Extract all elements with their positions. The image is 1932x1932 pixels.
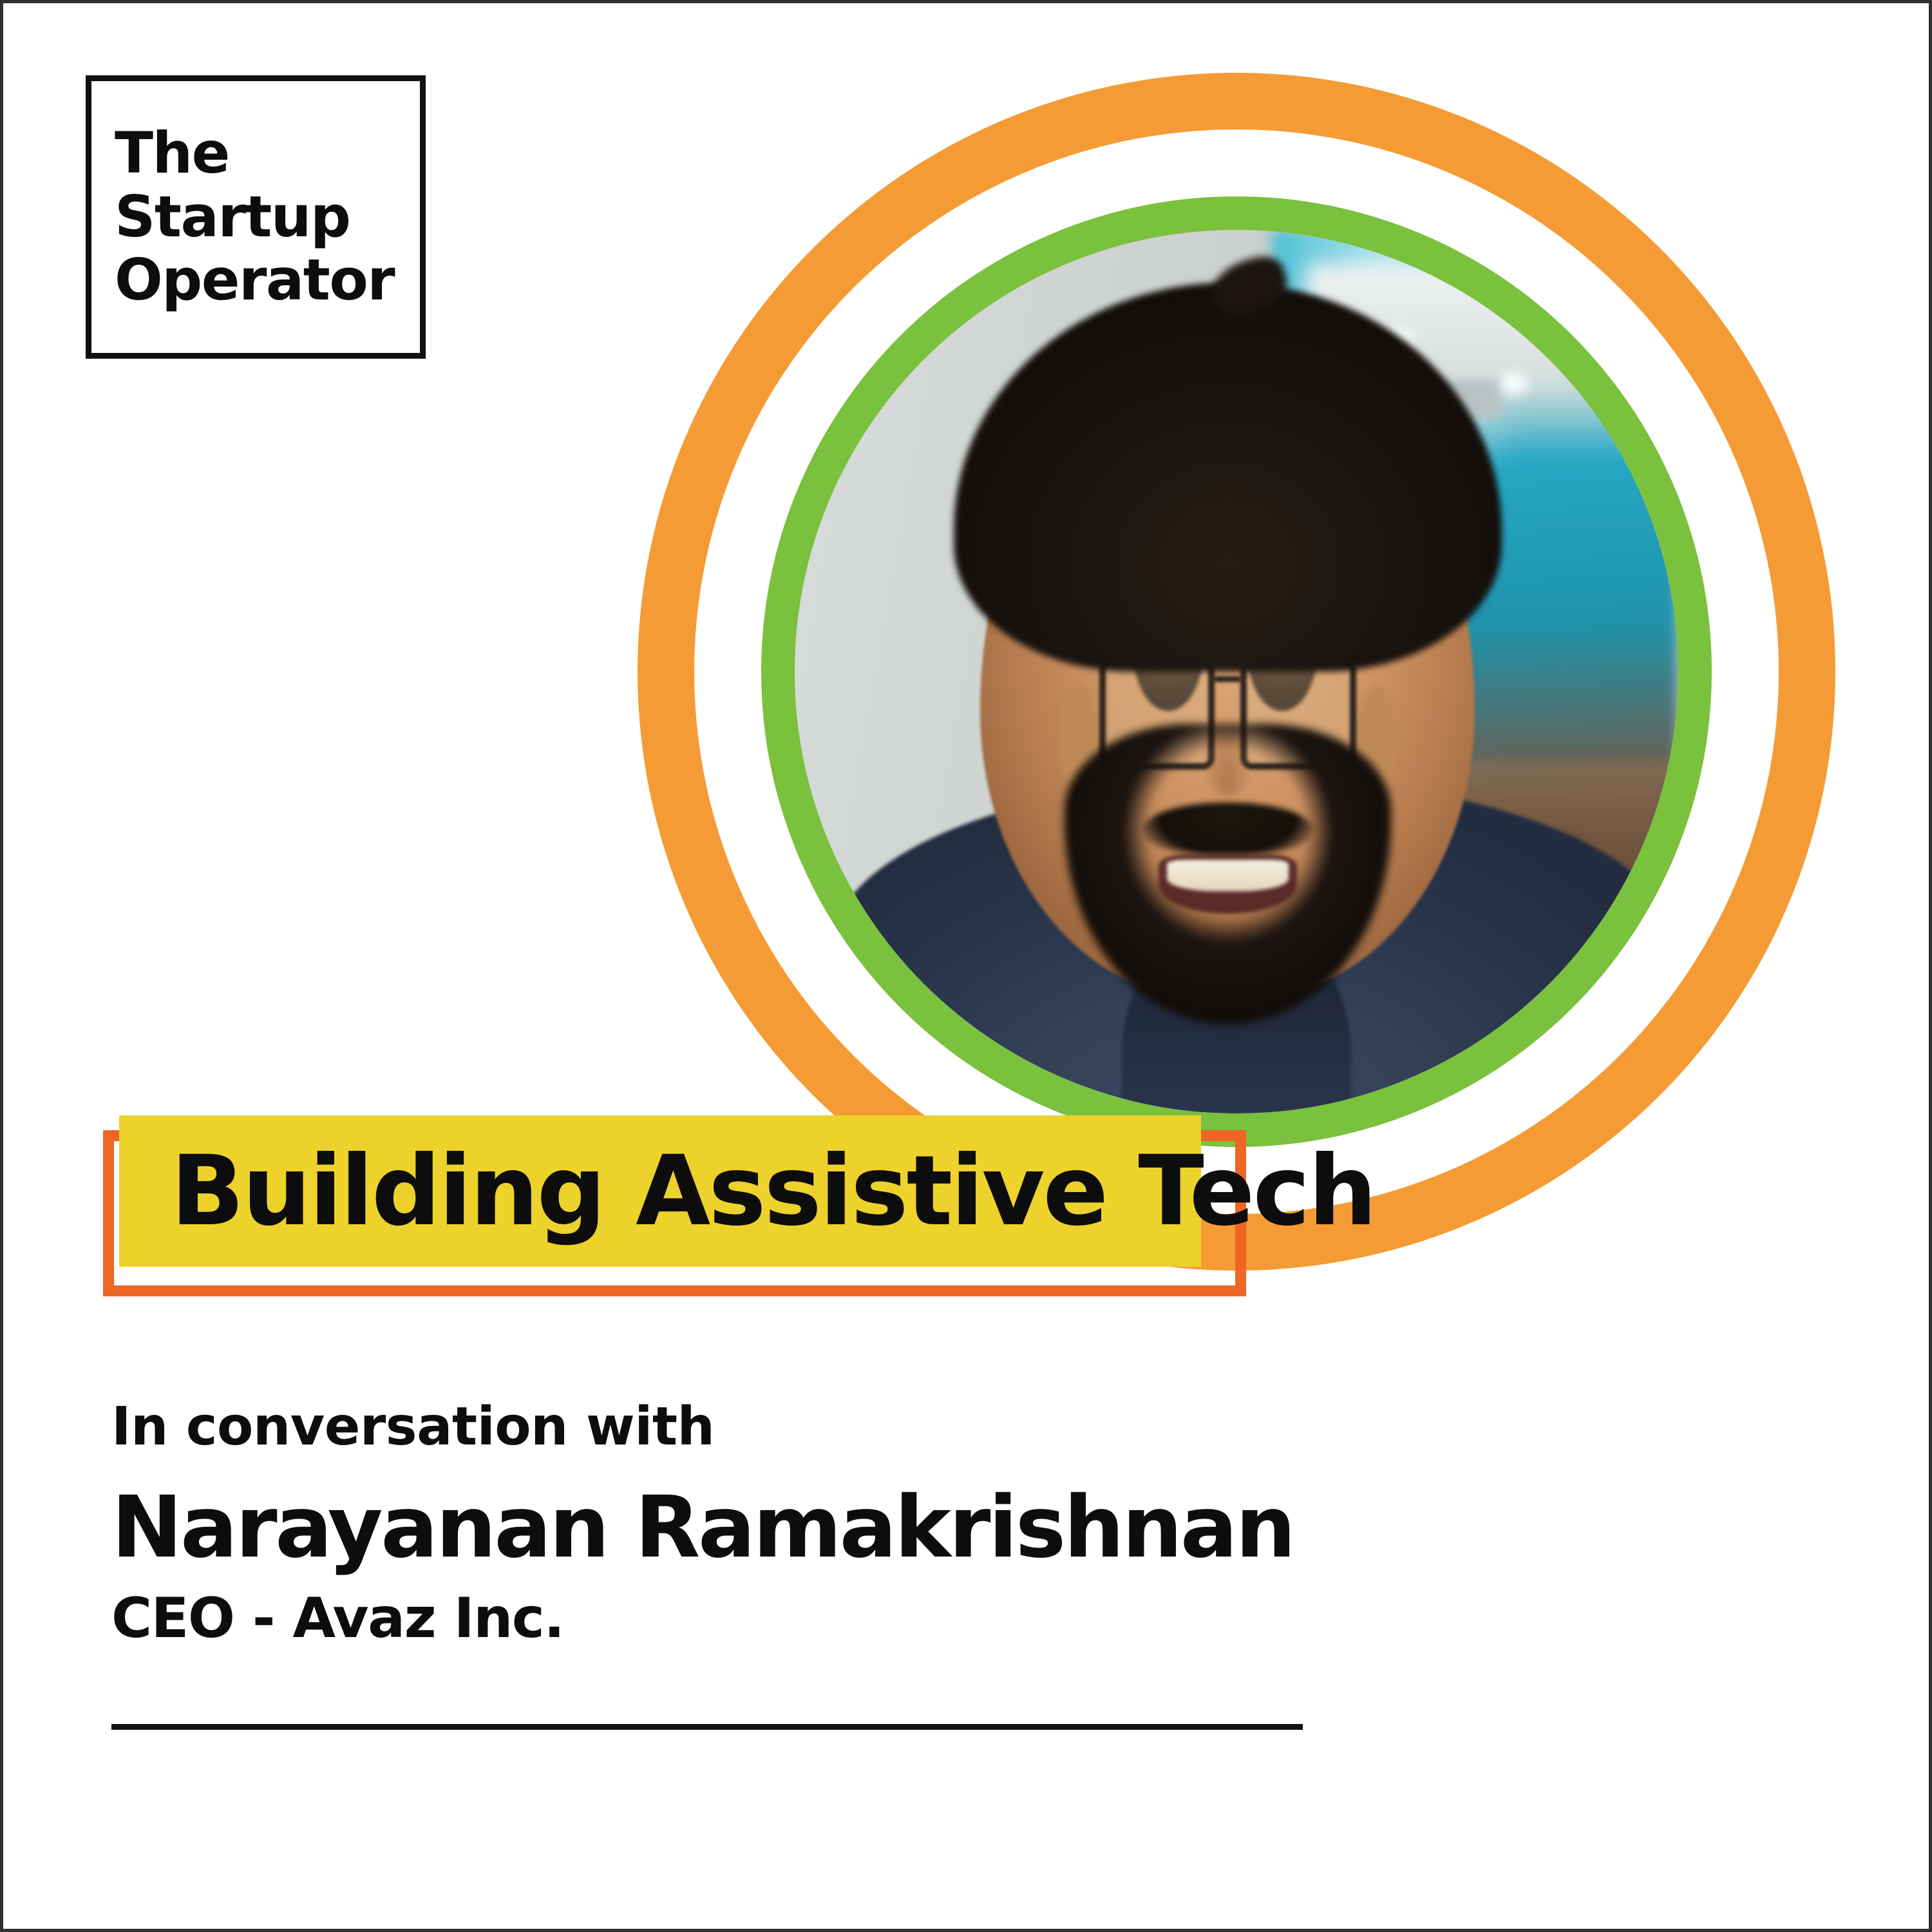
photo-glasses-bridge	[1215, 676, 1240, 682]
portrait-ring-stack	[638, 73, 1835, 1271]
promo-card: The Startup Operator	[0, 0, 1932, 1932]
brand-logo-text: The Startup Operator	[91, 122, 394, 312]
footer-divider	[111, 1724, 1303, 1730]
title-yellow-plate: Building Assistive Tech	[119, 1115, 1201, 1267]
conversation-kicker: In conversation with	[111, 1399, 1657, 1455]
inner-green-ring	[761, 196, 1712, 1147]
photo-ceiling-light	[1500, 372, 1528, 395]
photo-mouth	[1159, 855, 1297, 913]
photo-teeth	[1167, 860, 1289, 891]
guest-role: CEO - Avaz Inc.	[111, 1589, 1657, 1647]
guest-portrait-photo	[795, 230, 1678, 1113]
brand-logo-box: The Startup Operator	[86, 75, 426, 359]
guest-info-block: In conversation with Narayanan Ramakrish…	[111, 1399, 1657, 1647]
guest-name: Narayanan Ramakrishnan	[111, 1483, 1657, 1573]
photo-mustache	[1144, 802, 1312, 855]
episode-title: Building Assistive Tech	[119, 1143, 1375, 1240]
